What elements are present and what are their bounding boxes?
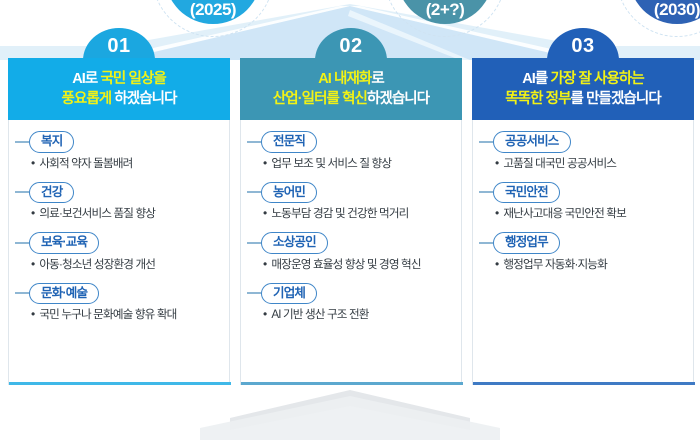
category-pill[interactable]: 전문직 [261,131,317,152]
connector-line [247,292,261,294]
bullet-text: 의료·보건서비스 품질 향상 [39,207,155,221]
bullet-dot: • [31,157,34,170]
bullet-item: • 재난사고대응 국민안전 확보 [479,207,687,221]
bullet-item: • AI 기반 생산 구조 전환 [247,308,455,322]
connector-line [247,242,261,244]
bullet-text: 아동·청소년 성장환경 개선 [39,258,155,272]
columns-container: 01 AI로 국민 일상을 풍요롭게 하겠습니다 복지 • [0,28,700,388]
category-pill[interactable]: 문화·예술 [29,283,99,304]
column-title-line1-03: AI를 가장 잘 사용하는 [522,69,644,89]
bullet-text: 노동부담 경감 및 건강한 먹거리 [271,207,408,221]
panel-bottom-bar-02 [241,382,463,385]
category-pill[interactable]: 복지 [29,131,74,152]
column-title-line2-01: 풍요롭게 하겠습니다 [61,89,176,109]
column-title-line1-01: AI로 국민 일상을 [72,69,166,89]
panel-bottom-bar-01 [9,382,231,385]
panel-bottom-bar-03 [473,382,695,385]
bullet-item: • 노동부담 경감 및 건강한 먹거리 [247,207,455,221]
column-header-03: AI를 가장 잘 사용하는 똑똑한 정부를 만들겠습니다 [472,58,694,120]
title-highlight: 산업·일터를 혁신 [273,91,367,107]
category-pill[interactable]: 기업체 [261,283,317,304]
connector-line [479,242,493,244]
title-plain: AI를 [522,71,550,87]
bullet-dot: • [495,258,498,271]
title-highlight: 똑똑한 정부 [505,91,570,107]
bullet-dot: • [263,258,266,271]
title-plain: 하겠습니다 [111,91,176,107]
bullet-dot: • [263,157,266,170]
column-title-line2-03: 똑똑한 정부를 만들겠습니다 [505,89,661,109]
category-pill[interactable]: 건강 [29,182,74,203]
group-01-4: 문화·예술 • 국민 누구나 문화예술 향유 확대 [15,281,223,322]
pill-row: 복지 [15,130,223,154]
bullet-text: 국민 누구나 문화예술 향유 확대 [39,308,176,322]
category-pill[interactable]: 보육·교육 [29,232,99,253]
pill-row: 문화·예술 [15,281,223,305]
group-02-4: 기업체 • AI 기반 생산 구조 전환 [247,281,455,322]
title-highlight: 풍요롭게 [61,91,111,107]
bullet-dot: • [31,258,34,271]
bullet-text: 행정업무 자동화·지능화 [503,258,607,272]
column-number-02: 02 [339,35,362,58]
top-circle-label-1: (2025) [190,0,236,20]
connector-line [15,191,29,193]
group-02-1: 전문직 • 업무 보조 및 서비스 질 향상 [247,130,455,171]
column-panel-01: 복지 • 사회적 약자 돌봄배려 건강 • 의료·보건서비스 품질 향상 [8,116,230,385]
pill-row: 공공서비스 [479,130,687,154]
pill-row: 건강 [15,180,223,204]
title-plain: 를 만들겠습니다 [571,91,661,107]
pill-row: 국민안전 [479,180,687,204]
bullet-dot: • [263,308,266,321]
connector-line [479,191,493,193]
chevron-arrow-icon [0,388,700,440]
category-pill[interactable]: 행정업무 [493,232,560,253]
group-02-3: 소상공인 • 매장운영 효율성 향상 및 경영 혁신 [247,231,455,272]
bullet-item: • 고품질 대국민 공공서비스 [479,157,687,171]
group-01-2: 건강 • 의료·보건서비스 품질 향상 [15,180,223,221]
connector-line [15,292,29,294]
bullet-dot: • [31,308,34,321]
group-01-1: 복지 • 사회적 약자 돌봄배려 [15,130,223,171]
group-01-3: 보육·교육 • 아동·청소년 성장환경 개선 [15,231,223,272]
column-01: 01 AI로 국민 일상을 풍요롭게 하겠습니다 복지 • [8,28,230,385]
bullet-item: • 업무 보조 및 서비스 질 향상 [247,157,455,171]
pill-row: 소상공인 [247,231,455,255]
group-02-2: 농어민 • 노동부담 경감 및 건강한 먹거리 [247,180,455,221]
pill-row: 행정업무 [479,231,687,255]
connector-line [15,242,29,244]
column-number-03: 03 [571,35,594,58]
column-panel-03: 공공서비스 • 고품질 대국민 공공서비스 국민안전 • 재난사고대응 국민안전… [472,116,694,385]
bullet-item: • 행정업무 자동화·지능화 [479,258,687,272]
title-highlight: 가장 잘 사용하는 [550,71,643,87]
bullet-item: • 의료·보건서비스 품질 향상 [15,207,223,221]
bullet-dot: • [495,207,498,220]
title-highlight: 국민 일상을 [100,71,165,87]
bottom-chevron [0,388,700,440]
connector-line [247,191,261,193]
bullet-text: 업무 보조 및 서비스 질 향상 [271,157,391,171]
title-plain: 로 [371,71,383,87]
title-plain: 하겠습니다 [367,91,429,107]
column-header-01: AI로 국민 일상을 풍요롭게 하겠습니다 [8,58,230,120]
top-circle-label-2: (2+?) [426,0,465,20]
bullet-dot: • [495,157,498,170]
title-highlight: AI 내재화 [318,71,371,87]
title-plain: AI로 [72,71,100,87]
bullet-item: • 아동·청소년 성장환경 개선 [15,258,223,272]
column-panel-02: 전문직 • 업무 보조 및 서비스 질 향상 농어민 • 노동부담 경감 및 건… [240,116,462,385]
bullet-item: • 사회적 약자 돌봄배려 [15,157,223,171]
bullet-text: 매장운영 효율성 향상 및 경영 혁신 [271,258,420,272]
connector-line [247,141,261,143]
infographic-root: (2025) (2+?) (2030) 01 AI로 국민 일상을 풍요롭게 하… [0,0,700,440]
category-pill[interactable]: 국민안전 [493,182,560,203]
bullet-text: AI 기반 생산 구조 전환 [271,308,368,322]
connector-line [15,141,29,143]
bullet-item: • 매장운영 효율성 향상 및 경영 혁신 [247,258,455,272]
column-number-01: 01 [107,35,130,58]
category-pill[interactable]: 공공서비스 [493,131,571,152]
column-title-line1-02: AI 내재화로 [318,69,384,89]
pill-row: 농어민 [247,180,455,204]
bullet-item: • 국민 누구나 문화예술 향유 확대 [15,308,223,322]
group-03-1: 공공서비스 • 고품질 대국민 공공서비스 [479,130,687,171]
column-header-02: AI 내재화로 산업·일터를 혁신하겠습니다 [240,58,462,120]
column-title-line2-02: 산업·일터를 혁신하겠습니다 [273,89,429,109]
category-pill[interactable]: 농어민 [261,182,317,203]
pill-row: 전문직 [247,130,455,154]
top-circle-label-3: (2030) [654,0,700,20]
bullet-text: 고품질 대국민 공공서비스 [503,157,616,171]
pill-row: 보육·교육 [15,231,223,255]
bullet-dot: • [263,207,266,220]
bullet-text: 재난사고대응 국민안전 확보 [503,207,626,221]
category-pill[interactable]: 소상공인 [261,232,328,253]
column-02: 02 AI 내재화로 산업·일터를 혁신하겠습니다 전문직 • [240,28,462,385]
connector-line [479,141,493,143]
bullet-text: 사회적 약자 돌봄배려 [39,157,132,171]
group-03-2: 국민안전 • 재난사고대응 국민안전 확보 [479,180,687,221]
group-03-3: 행정업무 • 행정업무 자동화·지능화 [479,231,687,272]
bullet-dot: • [31,207,34,220]
pill-row: 기업체 [247,281,455,305]
column-03: 03 AI를 가장 잘 사용하는 똑똑한 정부를 만들겠습니다 공공서비스 [472,28,694,385]
